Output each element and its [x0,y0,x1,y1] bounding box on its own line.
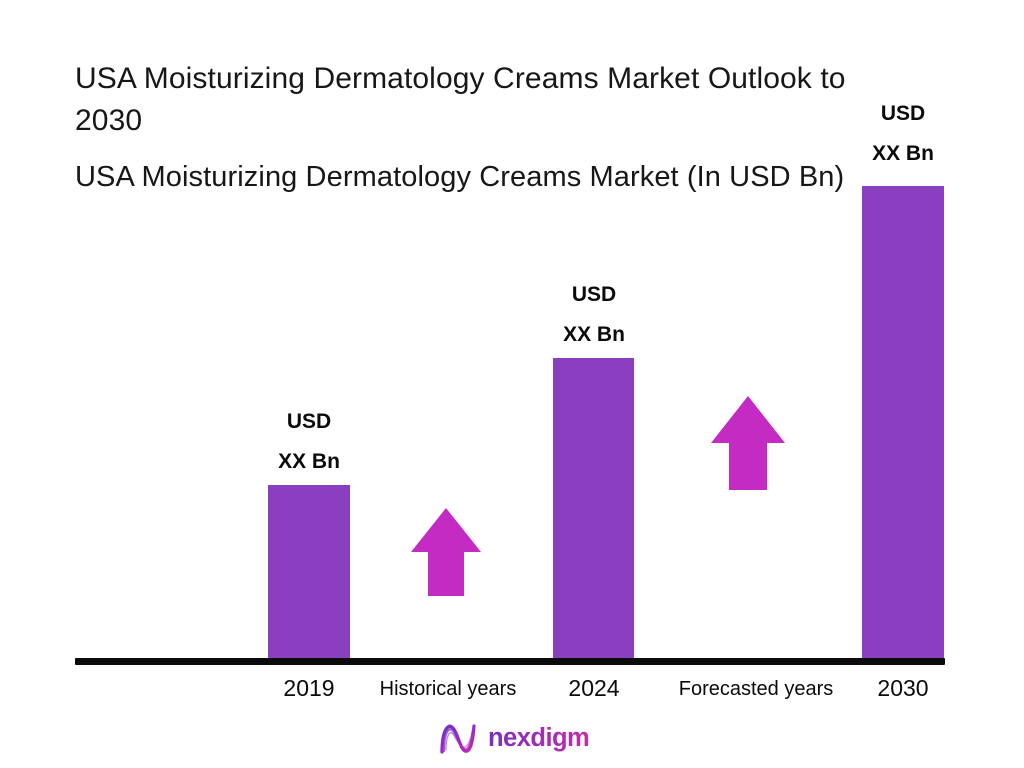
bar-label-2019-line2: XX Bn [249,442,369,482]
x-axis-label-historical-years: Historical years [348,678,548,701]
bar-2024 [553,358,634,660]
up-arrow-icon-historical [410,506,482,598]
bar-2030 [862,186,944,660]
bar-label-2030: USD XX Bn [843,94,963,174]
brand-wordmark: nexdigm [488,723,620,753]
x-axis-line [75,658,945,665]
bar-label-2024-line1: USD [534,275,654,315]
bar-label-2030-line1: USD [843,94,963,134]
bar-2019 [268,485,350,660]
brand-logo: nexdigm [437,718,620,758]
bar-label-2024: USD XX Bn [534,275,654,355]
x-axis-label-2030: 2030 [843,675,963,702]
nexdigm-wave-n-icon [437,718,479,758]
bar-label-2019-line1: USD [249,402,369,442]
bar-label-2030-line2: XX Bn [843,134,963,174]
svg-text:nexdigm: nexdigm [488,724,589,752]
x-axis-label-2024: 2024 [534,675,654,702]
bar-label-2024-line2: XX Bn [534,315,654,355]
slide-canvas: USA Moisturizing Dermatology Creams Mark… [0,0,1024,768]
up-arrow-icon-forecast [710,394,786,492]
chart-plot-area: USD XX Bn USD XX Bn USD XX Bn 2019 Histo… [0,0,1024,768]
x-axis-label-forecasted-years: Forecasted years [650,678,862,701]
bar-label-2019: USD XX Bn [249,402,369,482]
